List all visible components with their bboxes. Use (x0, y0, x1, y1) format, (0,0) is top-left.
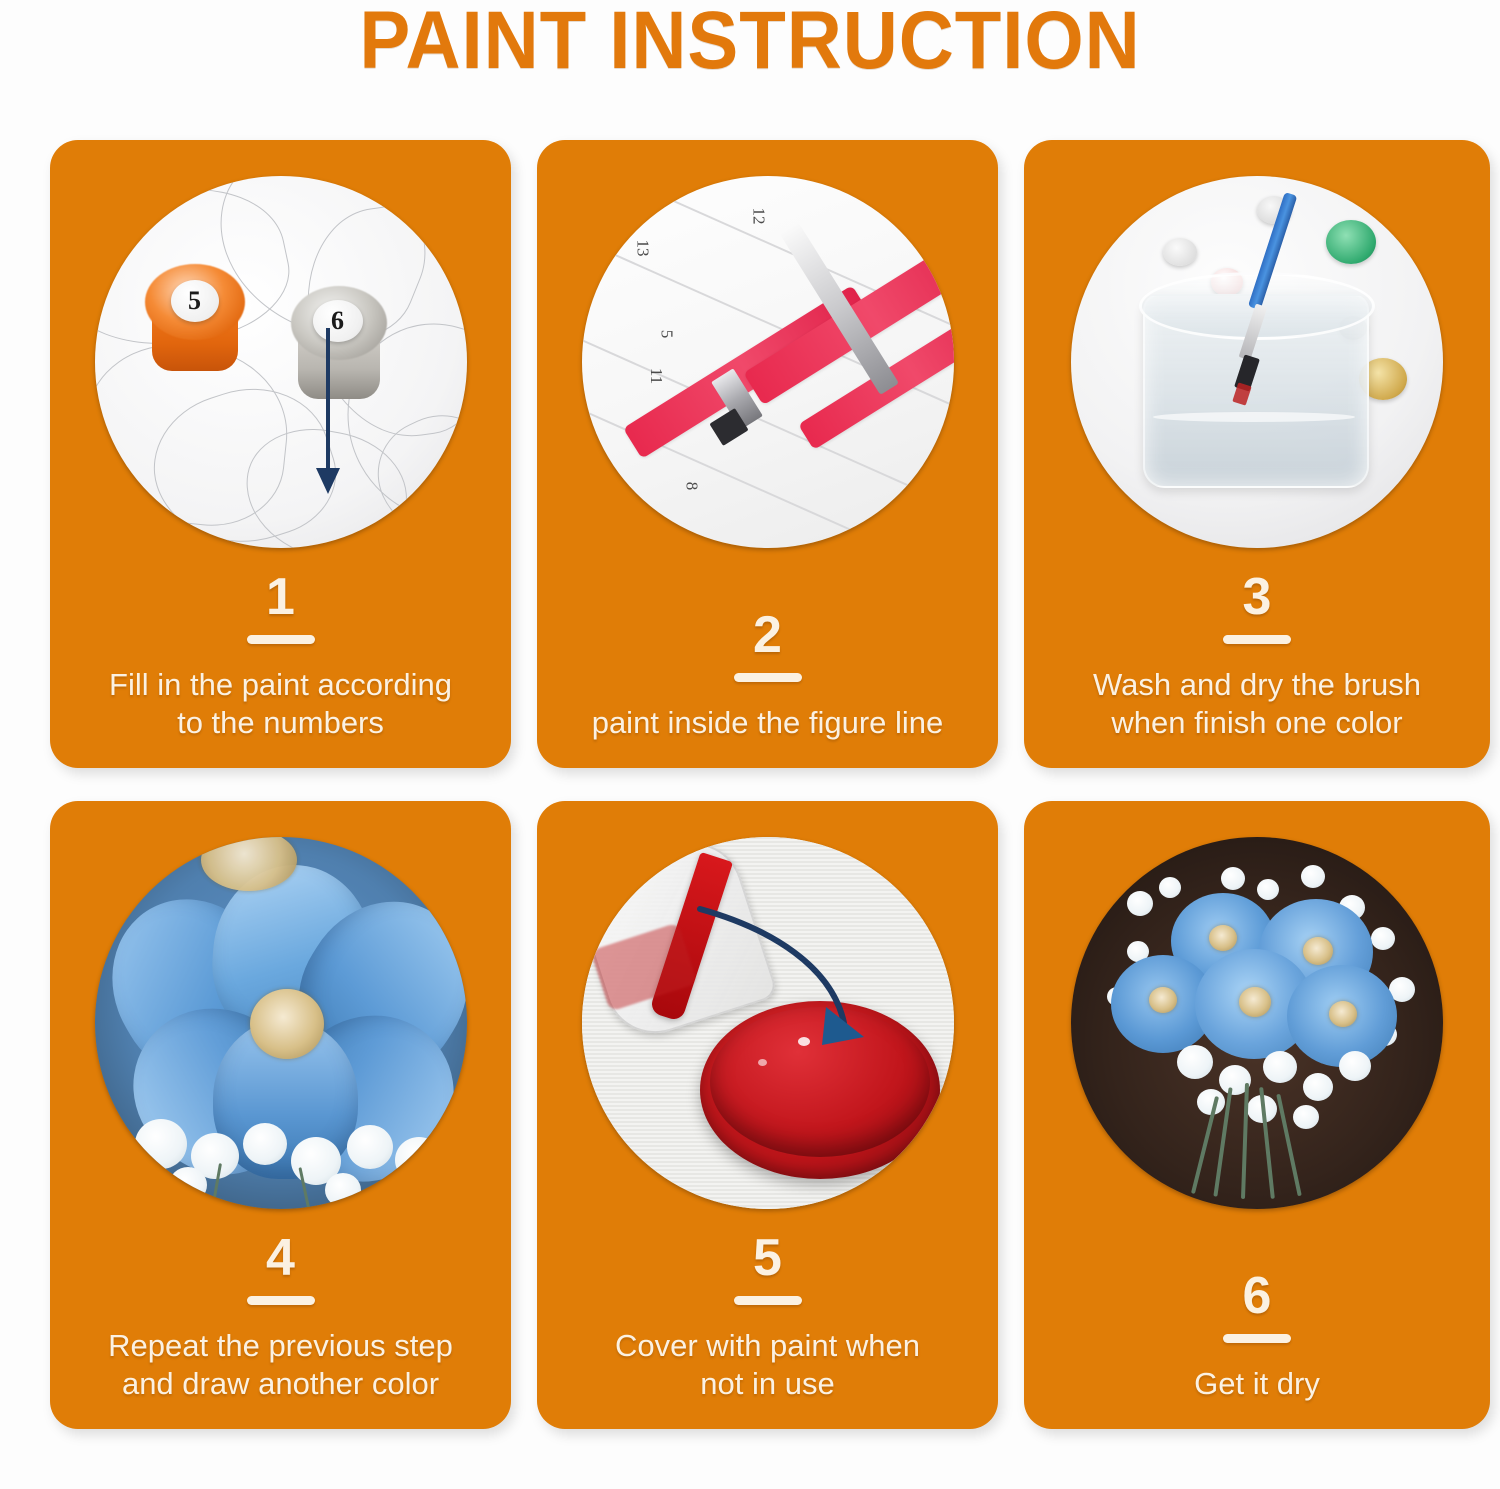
step-caption: Cover with paint when not in use (537, 1327, 998, 1403)
step-divider (1223, 1334, 1291, 1343)
step-number: 3 (1024, 571, 1490, 623)
step-divider (247, 1296, 315, 1305)
step-number: 5 (537, 1232, 998, 1284)
step-divider (734, 1296, 802, 1305)
steps-grid: 5 6 1 Fill in the paint according to the… (50, 140, 1490, 1429)
step-card-3[interactable]: 3 Wash and dry the brush when finish one… (1024, 140, 1490, 768)
canvas-number: 5 (656, 330, 676, 339)
canvas-number: 12 (748, 208, 768, 225)
step-card-4[interactable]: 4 Repeat the previous step and draw anot… (50, 801, 511, 1429)
step-number: 2 (537, 609, 998, 661)
step-number: 1 (50, 571, 511, 623)
step-5-image (582, 837, 954, 1209)
canvas-number: 11 (646, 368, 666, 384)
step-caption: Get it dry (1024, 1365, 1490, 1403)
canvas-number: 13 (632, 240, 652, 257)
step-caption: Fill in the paint according to the numbe… (50, 666, 511, 742)
step-divider (1223, 635, 1291, 644)
step-divider (247, 635, 315, 644)
step-card-2[interactable]: 12 8 5 13 11 2 paint inside the figure l… (537, 140, 998, 768)
step-number: 4 (50, 1232, 511, 1284)
step-card-1[interactable]: 5 6 1 Fill in the paint according to the… (50, 140, 511, 768)
page-title: PAINT INSTRUCTION (53, 0, 1448, 84)
step-caption: Wash and dry the brush when finish one c… (1024, 666, 1490, 742)
pot-label-5-icon: 5 (171, 280, 219, 322)
step-card-6[interactable]: 6 Get it dry (1024, 801, 1490, 1429)
pot-label-6-icon: 6 (313, 300, 363, 342)
step-number: 6 (1024, 1270, 1490, 1322)
step-card-5[interactable]: 5 Cover with paint when not in use (537, 801, 998, 1429)
down-arrow-icon (326, 328, 330, 476)
step-caption: paint inside the figure line (537, 704, 998, 742)
canvas-number: 8 (681, 482, 701, 491)
step-4-image (95, 837, 467, 1209)
step-divider (734, 673, 802, 682)
step-caption: Repeat the previous step and draw anothe… (50, 1327, 511, 1403)
step-2-image: 12 8 5 13 11 (582, 176, 954, 548)
curved-arrow-icon (582, 837, 954, 1209)
step-1-image: 5 6 (95, 176, 467, 548)
step-6-image (1071, 837, 1443, 1209)
step-3-image (1071, 176, 1443, 548)
